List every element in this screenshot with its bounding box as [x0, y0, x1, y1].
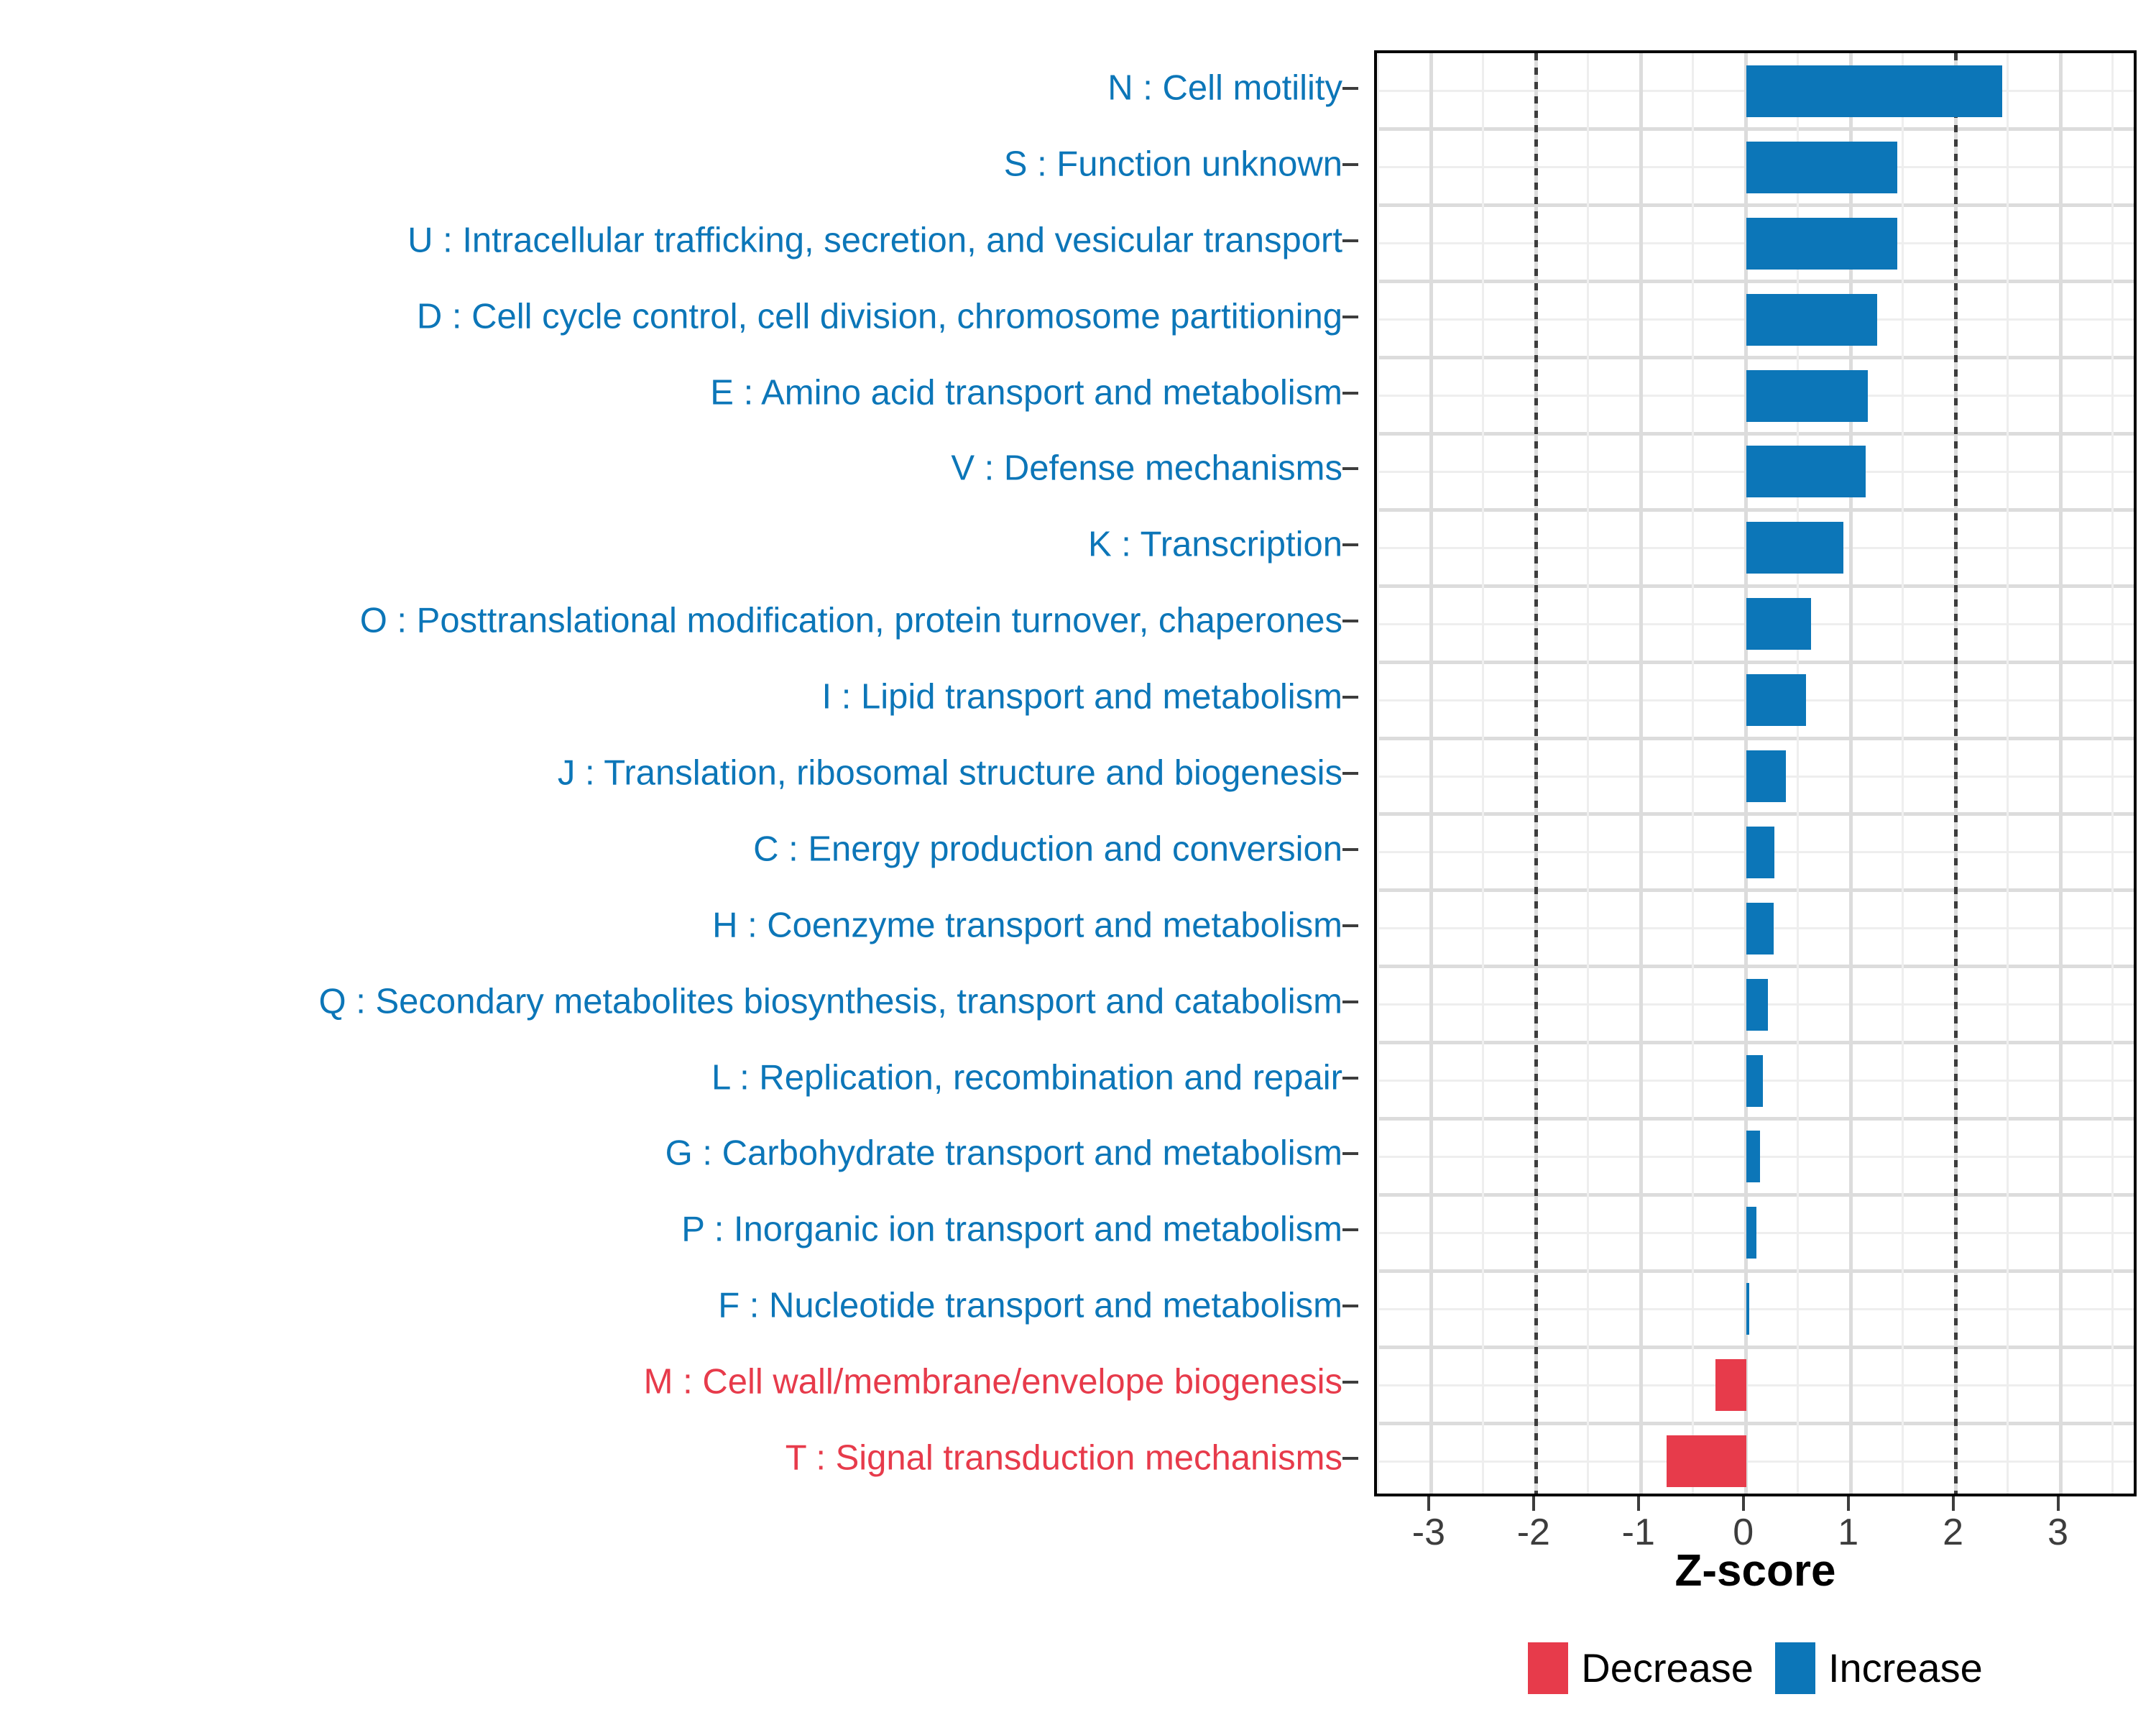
bar[interactable]	[1667, 1435, 1746, 1487]
y-axis-tick	[1342, 772, 1358, 775]
y-axis-tick	[1342, 239, 1358, 242]
bar[interactable]	[1746, 674, 1806, 726]
y-axis-label: G : Carbohydrate transport and metabolis…	[665, 1136, 1342, 1172]
legend-item[interactable]: Decrease	[1528, 1642, 1754, 1694]
legend-item[interactable]: Increase	[1775, 1642, 1983, 1694]
horizontal-gridline	[1377, 661, 2134, 664]
x-axis-tick	[2057, 1496, 2060, 1511]
bar[interactable]	[1746, 827, 1774, 878]
y-axis-tick	[1342, 1457, 1358, 1460]
legend-label: Increase	[1828, 1647, 1983, 1690]
bar[interactable]	[1746, 142, 1897, 193]
horizontal-gridline	[1377, 432, 2134, 436]
x-axis-tick	[1742, 1496, 1745, 1511]
y-axis-tick	[1342, 848, 1358, 851]
y-axis-tick	[1342, 1000, 1358, 1003]
horizontal-gridline	[1377, 812, 2134, 816]
y-axis-label: D : Cell cycle control, cell division, c…	[417, 299, 1342, 334]
x-axis-tick	[1532, 1496, 1535, 1511]
bar[interactable]	[1746, 1055, 1763, 1107]
legend-swatch-icon	[1775, 1642, 1815, 1694]
vertical-gridline	[1587, 53, 1589, 1494]
vertical-gridline	[1377, 53, 1379, 1494]
horizontal-gridline	[1377, 280, 2134, 283]
bar[interactable]	[1746, 522, 1844, 574]
horizontal-gridline	[1377, 203, 2134, 207]
horizontal-minor-gridline	[1377, 1384, 2134, 1386]
y-axis-label: K : Transcription	[1088, 528, 1342, 563]
bar[interactable]	[1715, 1359, 1746, 1411]
bar[interactable]	[1746, 750, 1786, 802]
horizontal-gridline	[1377, 127, 2134, 131]
y-axis-tick	[1342, 543, 1358, 546]
horizontal-gridline	[1377, 1117, 2134, 1121]
vertical-gridline	[1482, 53, 1484, 1494]
horizontal-gridline	[1377, 965, 2134, 968]
x-axis-tick	[1637, 1496, 1640, 1511]
legend-swatch-icon	[1528, 1642, 1568, 1694]
y-axis-tick	[1342, 1228, 1358, 1231]
vertical-gridline	[1639, 53, 1643, 1494]
chart-legend: DecreaseIncrease	[1374, 1642, 2137, 1694]
horizontal-gridline	[1377, 584, 2134, 588]
y-axis-label: H : Coenzyme transport and metabolism	[712, 908, 1342, 943]
y-axis-label: J : Translation, ribosomal structure and…	[558, 756, 1342, 791]
plot-area	[1374, 50, 2137, 1496]
x-axis-tick	[1952, 1496, 1955, 1511]
bar[interactable]	[1746, 598, 1811, 650]
y-axis-tick	[1342, 1305, 1358, 1307]
bar[interactable]	[1746, 903, 1774, 954]
y-axis-label: S : Function unknown	[1004, 147, 1342, 182]
horizontal-gridline	[1377, 508, 2134, 512]
reference-line	[1954, 53, 1958, 1494]
y-axis-label: N : Cell motility	[1107, 70, 1342, 106]
horizontal-gridline	[1377, 1041, 2134, 1044]
horizontal-gridline	[1377, 1422, 2134, 1425]
bar[interactable]	[1746, 1131, 1760, 1182]
horizontal-gridline	[1377, 1269, 2134, 1273]
y-axis-label: M : Cell wall/membrane/envelope biogenes…	[644, 1365, 1342, 1400]
vertical-gridline	[2059, 53, 2063, 1494]
legend-label: Decrease	[1581, 1647, 1754, 1690]
reference-line	[1534, 53, 1538, 1494]
chart-root: N : Cell motilityS : Function unknownU :…	[0, 0, 2156, 1725]
y-axis-label: F : Nucleotide transport and metabolism	[718, 1289, 1342, 1324]
vertical-gridline	[2111, 53, 2114, 1494]
y-axis-tick	[1342, 924, 1358, 927]
bar[interactable]	[1746, 65, 2002, 117]
y-axis-tick	[1342, 1152, 1358, 1155]
bar[interactable]	[1746, 1207, 1757, 1259]
y-axis-label: P : Inorganic ion transport and metaboli…	[681, 1213, 1342, 1248]
vertical-gridline	[1692, 53, 1694, 1494]
horizontal-gridline	[1377, 1345, 2134, 1349]
y-axis-label: V : Defense mechanisms	[951, 451, 1342, 487]
y-axis-label: I : Lipid transport and metabolism	[822, 680, 1342, 715]
y-axis-tick	[1342, 1077, 1358, 1080]
bar[interactable]	[1746, 218, 1897, 270]
y-axis-label: C : Energy production and conversion	[753, 832, 1342, 867]
y-axis-label: E : Amino acid transport and metabolism	[710, 375, 1342, 410]
y-axis-tick	[1342, 620, 1358, 622]
y-axis-tick	[1342, 1381, 1358, 1384]
y-axis-tick	[1342, 696, 1358, 699]
horizontal-gridline	[1377, 1193, 2134, 1197]
y-axis-tick	[1342, 392, 1358, 395]
horizontal-gridline	[1377, 737, 2134, 740]
horizontal-gridline	[1377, 356, 2134, 359]
y-axis-label: T : Signal transduction mechanisms	[786, 1441, 1342, 1476]
horizontal-minor-gridline	[1377, 1460, 2134, 1463]
y-axis-tick	[1342, 316, 1358, 318]
horizontal-gridline	[1377, 888, 2134, 892]
y-axis-tick	[1342, 163, 1358, 166]
vertical-gridline	[2007, 53, 2009, 1494]
bar[interactable]	[1746, 294, 1877, 346]
x-axis-title: Z-score	[1374, 1545, 2137, 1596]
y-axis-tick	[1342, 87, 1358, 90]
bar[interactable]	[1746, 446, 1866, 497]
bar[interactable]	[1746, 370, 1868, 422]
horizontal-minor-gridline	[1377, 1308, 2134, 1310]
bar[interactable]	[1746, 1283, 1749, 1335]
y-axis-label: O : Posttranslational modification, prot…	[360, 604, 1342, 639]
y-axis-label: L : Replication, recombination and repai…	[711, 1060, 1342, 1095]
y-axis-label: Q : Secondary metabolites biosynthesis, …	[319, 984, 1342, 1019]
vertical-gridline	[1429, 53, 1433, 1494]
y-axis-label: U : Intracellular trafficking, secretion…	[407, 223, 1342, 258]
bar[interactable]	[1746, 979, 1769, 1031]
vertical-gridline	[1902, 53, 1904, 1494]
x-axis-tick	[1427, 1496, 1430, 1511]
x-axis-tick	[1847, 1496, 1850, 1511]
y-axis-tick	[1342, 467, 1358, 470]
y-axis-labels: N : Cell motilityS : Function unknownU :…	[0, 50, 1358, 1496]
